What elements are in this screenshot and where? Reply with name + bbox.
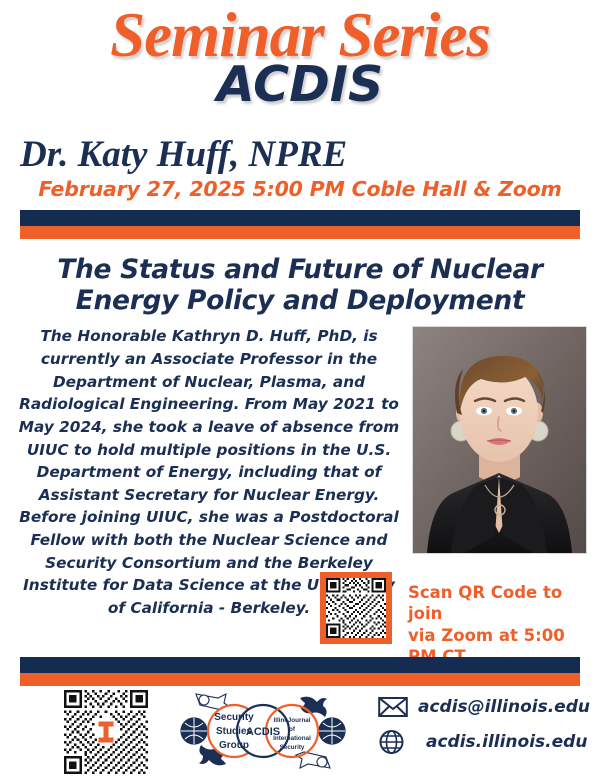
speaker-portrait — [413, 327, 586, 553]
logo-ijis-line3: International — [273, 735, 311, 742]
globe-icon-right — [319, 718, 345, 744]
divider-bar-orange — [20, 226, 580, 239]
logo-ijis-line4: Security — [280, 744, 305, 751]
footer-bar-navy — [20, 657, 580, 673]
logo-ijis-line1: Illini Journal — [273, 717, 310, 724]
contact-website-text: acdis.illinois.edu — [426, 732, 587, 752]
contact-email-row[interactable]: acdis@illinois.edu — [378, 694, 598, 720]
masthead: Seminar Series ACDIS — [0, 0, 600, 128]
scan-qr-note: Scan QR Code to join via Zoom at 5:00 PM… — [408, 582, 598, 668]
speaker-block: Dr. Katy Huff, NPRE February 27, 2025 5:… — [0, 136, 600, 201]
globe-icon-left — [181, 718, 207, 744]
zoom-qr-row: Scan QR Code to join via Zoom at 5:00 PM… — [0, 572, 600, 652]
org-logo-graphic: Security Studies Group ACDIS Illini Jour… — [172, 688, 354, 774]
speaker-name: Dr. Katy Huff, NPRE — [20, 136, 580, 175]
footer: Security Studies Group ACDIS Illini Jour… — [0, 688, 600, 776]
logo-ssg-line1: Security — [214, 712, 254, 723]
contact-block: acdis@illinois.edu acdis.illinois.edu — [378, 694, 598, 764]
globe-icon — [378, 729, 408, 755]
zoom-qr-code[interactable] — [320, 572, 392, 644]
contact-website-row[interactable]: acdis.illinois.edu — [378, 729, 598, 755]
seminar-poster: Seminar Series ACDIS Dr. Katy Huff, NPRE… — [0, 0, 600, 776]
footer-bar-orange — [20, 673, 580, 686]
logo-ssg-line3: Group — [219, 740, 249, 751]
talk-title: The Status and Future of Nuclear Energy … — [0, 239, 600, 317]
event-meta: February 27, 2025 5:00 PM Coble Hall & Z… — [20, 177, 580, 201]
zoom-qr-matrix — [326, 578, 386, 638]
contact-email-text: acdis@illinois.edu — [418, 697, 590, 717]
scan-note-line1: Scan QR Code to join — [408, 582, 598, 625]
footer-qr-matrix — [64, 690, 148, 774]
divider-bars-top — [20, 210, 580, 239]
footer-qr-code[interactable] — [64, 690, 148, 774]
divider-bars-bottom — [20, 657, 580, 686]
envelope-icon — [378, 694, 408, 720]
acdis-org-logo: Security Studies Group ACDIS Illini Jour… — [172, 688, 354, 774]
divider-bar-navy — [20, 210, 580, 226]
acdis-wordmark: ACDIS — [0, 60, 600, 109]
portrait-illustration — [413, 327, 586, 553]
logo-ijis-line2: of — [289, 726, 296, 733]
body-row: The Honorable Kathryn D. Huff, PhD, is c… — [0, 325, 600, 575]
